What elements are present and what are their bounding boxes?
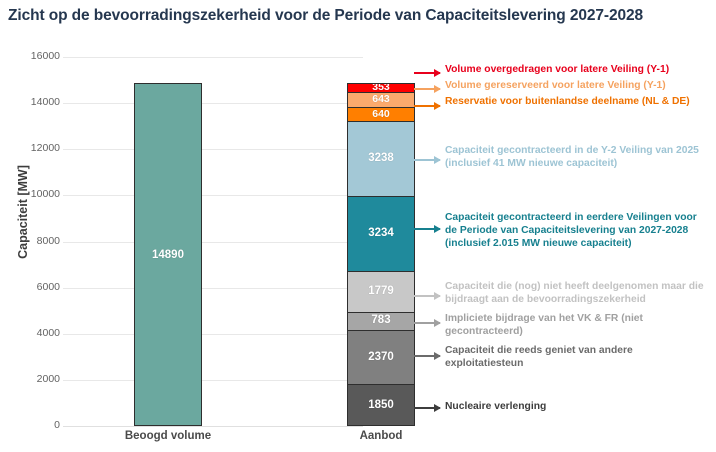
callout-label: Volume gereserveerd voor latere Veiling …	[445, 80, 710, 93]
bar-segment[interactable]: 783	[348, 312, 414, 330]
callout-leader-arrow	[414, 228, 440, 230]
y-tick-label: 8000	[4, 235, 60, 247]
bar-segment-value-label: 640	[372, 109, 390, 120]
bar-segment[interactable]: 3238	[348, 121, 414, 196]
bar-segment-value-label: 1850	[368, 400, 394, 412]
bar-segment-value-label: 14890	[152, 250, 184, 262]
axis-baseline	[63, 426, 363, 427]
y-tick-label: 12000	[4, 142, 60, 154]
gridline	[63, 103, 363, 104]
gridline	[63, 195, 363, 196]
y-tick-label: 4000	[4, 327, 60, 339]
x-tick-label: Aanbod	[287, 430, 475, 442]
callout-leader-arrow	[414, 355, 440, 357]
bar-segment-value-label: 783	[371, 315, 390, 327]
callout-label: Capaciteit gecontracteerd in eerdere Vei…	[445, 212, 710, 251]
bar-beoogd-volume[interactable]: 14890	[134, 83, 202, 426]
callout-leader-arrow	[414, 407, 440, 409]
callout-label: Volume overgedragen voor latere Veiling …	[445, 64, 710, 77]
gridline	[63, 242, 363, 243]
bar-segment-value-label: 1779	[368, 286, 394, 298]
gridline	[63, 288, 363, 289]
y-tick-label: 16000	[4, 50, 60, 62]
callout-leader-arrow	[414, 88, 440, 90]
bar-segment-value-label: 3234	[368, 228, 394, 240]
bar-segment[interactable]: 643	[348, 92, 414, 107]
callout-label: Capaciteit die reeds geniet van andere e…	[445, 345, 710, 371]
x-tick-label: Beoogd volume	[74, 430, 262, 442]
callout-label: Reservatie voor buitenlandse deelname (N…	[445, 96, 710, 109]
callout-leader-arrow	[414, 159, 440, 161]
bar-segment[interactable]: 14890	[135, 84, 201, 426]
gridline	[63, 380, 363, 381]
callout-label: Impliciete bijdrage van het VK & FR (nie…	[445, 313, 710, 339]
y-tick-label: 2000	[4, 373, 60, 385]
bar-segment[interactable]: 3234	[348, 196, 414, 271]
y-tick-label: 0	[4, 419, 60, 431]
gridline	[63, 334, 363, 335]
gridline	[63, 149, 363, 150]
y-tick-label: 10000	[4, 188, 60, 200]
bar-aanbod[interactable]: 35364364032383234177978323701850	[347, 83, 415, 426]
callout-label: Capaciteit die (nog) niet heeft deelgeno…	[445, 281, 710, 307]
callout-label: Nucleaire verlenging	[445, 401, 710, 414]
bar-segment[interactable]: 1850	[348, 384, 414, 426]
y-axis-title: Capaciteit [MW]	[16, 132, 30, 292]
y-tick-label: 6000	[4, 281, 60, 293]
y-tick-label: 14000	[4, 96, 60, 108]
gridline	[63, 57, 363, 58]
plot-area: 0200040006000800010000120001400016000 Ca…	[0, 0, 716, 452]
bar-segment[interactable]: 353	[348, 84, 414, 92]
callout-leader-arrow	[414, 72, 440, 74]
bar-segment[interactable]: 2370	[348, 330, 414, 385]
bar-segment-value-label: 3238	[368, 153, 394, 165]
bar-segment[interactable]: 640	[348, 107, 414, 122]
callout-leader-arrow	[414, 295, 440, 297]
bar-segment-value-label: 643	[372, 94, 390, 105]
callout-label: Capaciteit gecontracteerd in de Y-2 Veil…	[445, 145, 710, 171]
bar-segment[interactable]: 1779	[348, 271, 414, 312]
bar-segment-value-label: 2370	[368, 352, 394, 364]
callout-leader-arrow	[414, 105, 440, 107]
callout-leader-arrow	[414, 322, 440, 324]
